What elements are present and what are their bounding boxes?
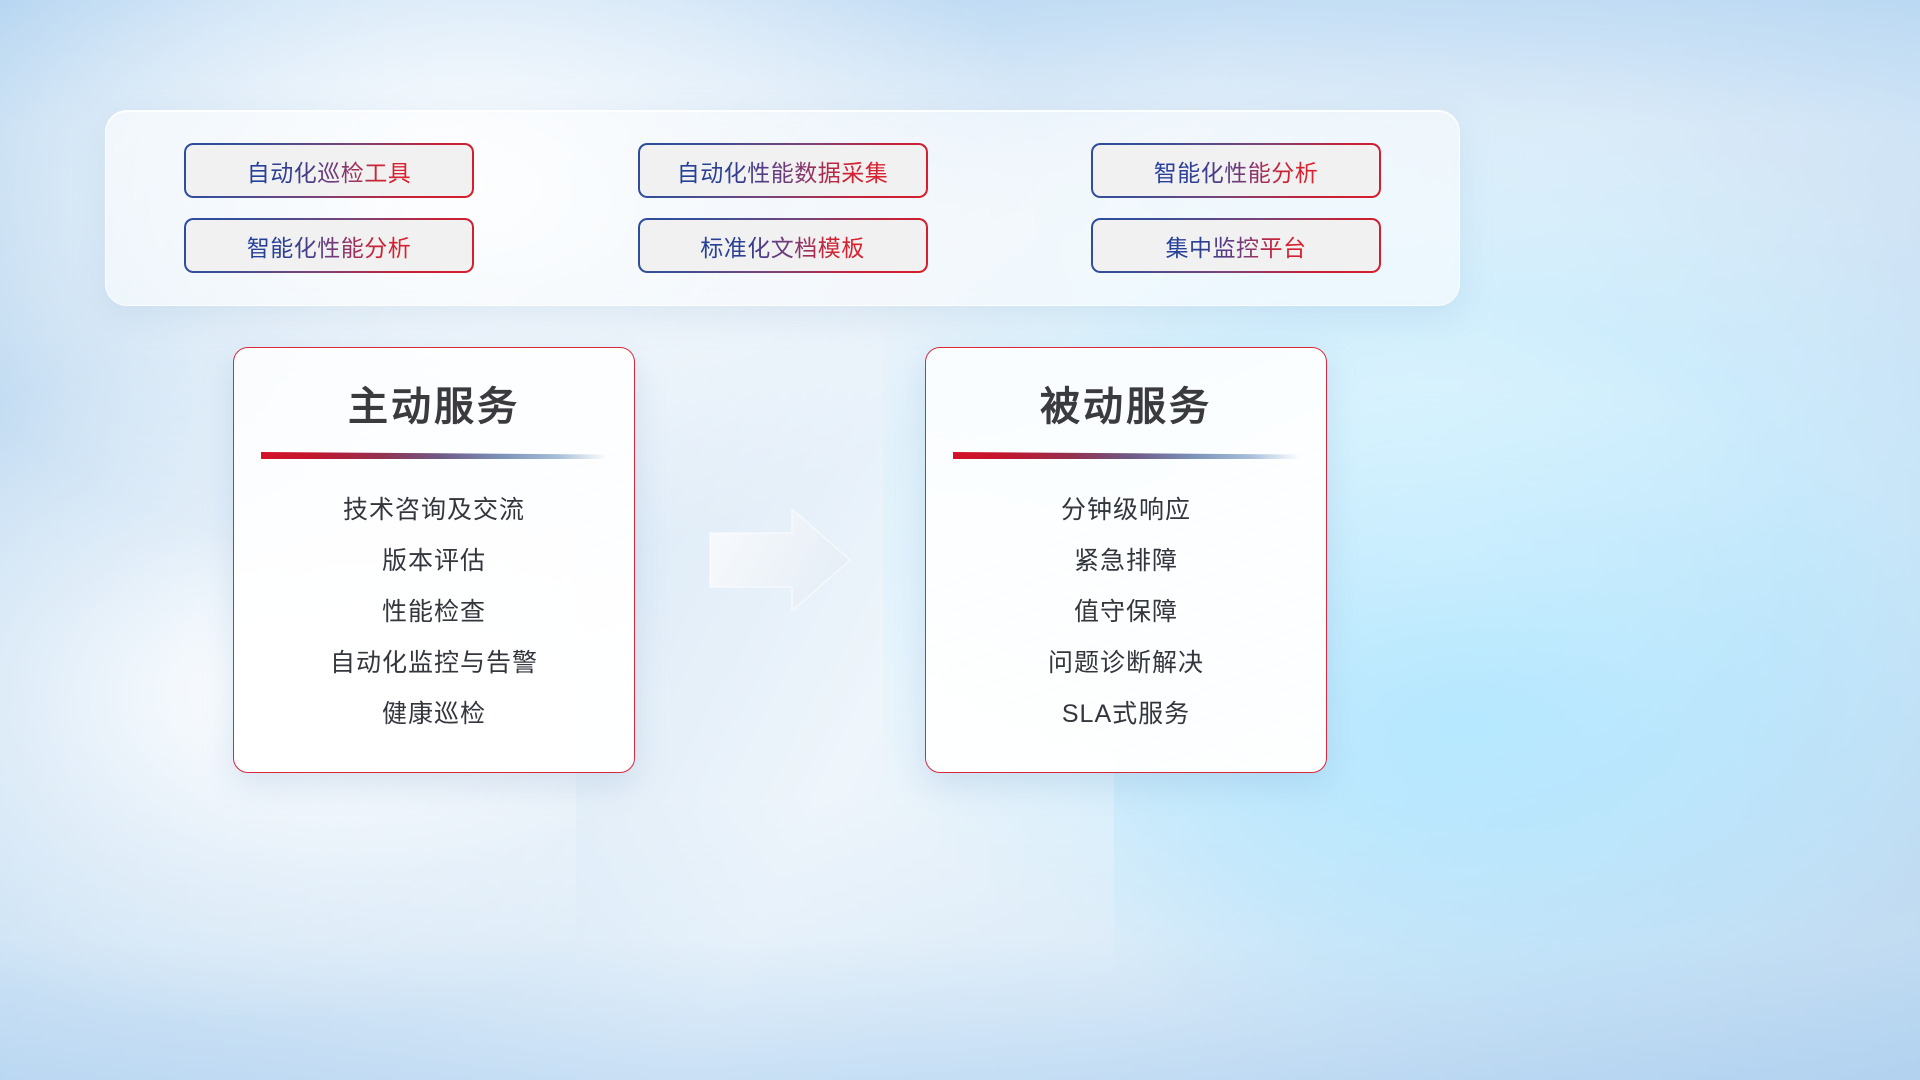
list-item: 技术咨询及交流 bbox=[234, 485, 634, 536]
capability-pill-centralized-monitoring-platform[interactable]: 集中监控平台 bbox=[1091, 218, 1381, 273]
card-divider bbox=[261, 452, 607, 459]
capability-panel: 自动化巡检工具 自动化性能数据采集 智能化性能分析 智能化性能分析 标准化文档模… bbox=[105, 110, 1460, 306]
capability-row-1: 自动化巡检工具 自动化性能数据采集 智能化性能分析 bbox=[184, 143, 1381, 198]
list-item: 值守保障 bbox=[926, 587, 1326, 638]
list-item: 性能检查 bbox=[234, 587, 634, 638]
card-item-list: 分钟级响应 紧急排障 值守保障 问题诊断解决 SLA式服务 bbox=[926, 485, 1326, 740]
capability-pill-label: 自动化巡检工具 bbox=[247, 154, 412, 188]
capability-pill-intelligent-performance-analysis[interactable]: 智能化性能分析 bbox=[1091, 143, 1381, 198]
list-item: SLA式服务 bbox=[926, 689, 1326, 740]
card-title: 被动服务 bbox=[926, 374, 1326, 432]
capability-pill-standardized-document-template[interactable]: 标准化文档模板 bbox=[638, 218, 928, 273]
list-item: 分钟级响应 bbox=[926, 485, 1326, 536]
capability-pill-automated-performance-data-collection[interactable]: 自动化性能数据采集 bbox=[638, 143, 928, 198]
card-title: 主动服务 bbox=[234, 374, 634, 432]
capability-row-2: 智能化性能分析 标准化文档模板 集中监控平台 bbox=[184, 218, 1381, 273]
card-divider bbox=[953, 452, 1299, 459]
list-item: 版本评估 bbox=[234, 536, 634, 587]
capability-pill-label: 标准化文档模板 bbox=[700, 229, 865, 263]
capability-pill-intelligent-performance-analysis-2[interactable]: 智能化性能分析 bbox=[184, 218, 474, 273]
capability-pill-label: 集中监控平台 bbox=[1166, 229, 1307, 263]
card-active-service: 主动服务 技术咨询及交流 版本评估 性能检查 自动化监控与告警 健康巡检 bbox=[233, 347, 635, 773]
capability-pill-label: 自动化性能数据采集 bbox=[677, 154, 889, 188]
list-item: 问题诊断解决 bbox=[926, 638, 1326, 689]
list-item: 自动化监控与告警 bbox=[234, 638, 634, 689]
capability-pill-label: 智能化性能分析 bbox=[1154, 154, 1319, 188]
capability-pill-automated-inspection-tool[interactable]: 自动化巡检工具 bbox=[184, 143, 474, 198]
list-item: 紧急排障 bbox=[926, 536, 1326, 587]
capability-pill-label: 智能化性能分析 bbox=[247, 229, 412, 263]
right-arrow-icon bbox=[706, 505, 854, 615]
card-item-list: 技术咨询及交流 版本评估 性能检查 自动化监控与告警 健康巡检 bbox=[234, 485, 634, 740]
card-passive-service: 被动服务 分钟级响应 紧急排障 值守保障 问题诊断解决 SLA式服务 bbox=[925, 347, 1327, 773]
list-item: 健康巡检 bbox=[234, 689, 634, 740]
